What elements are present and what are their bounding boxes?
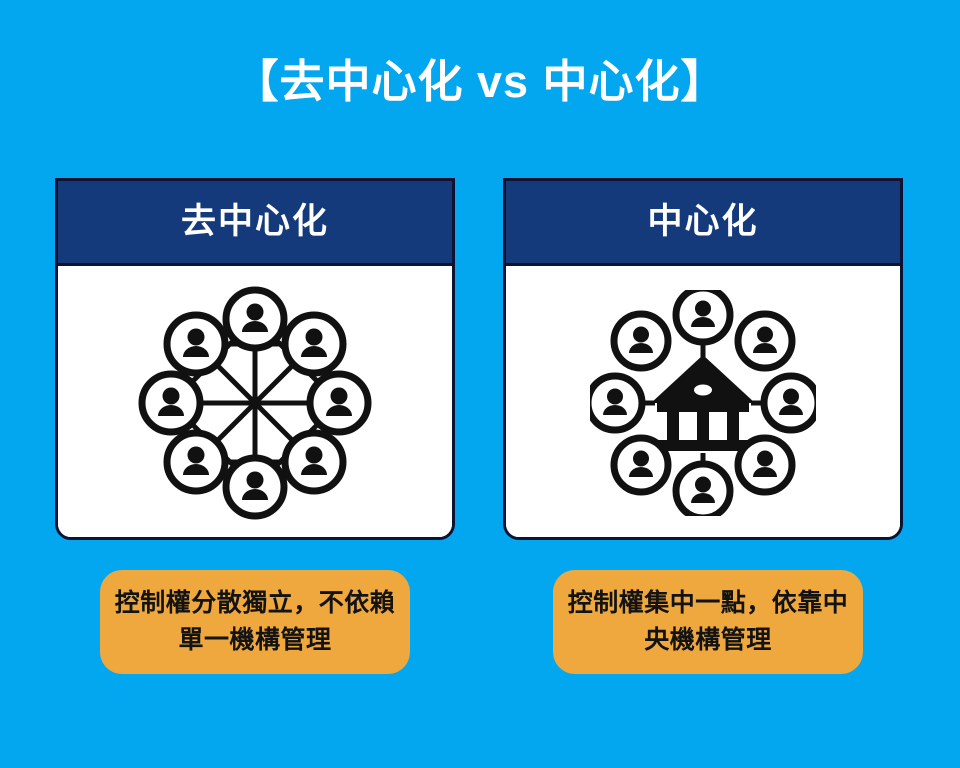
card-centralized: 中心化 — [503, 178, 903, 540]
card-decentralized: 去中心化 — [55, 178, 455, 540]
card-decentralized-title: 去中心化 — [181, 202, 329, 242]
caption-centralized-text: 控制權集中一點，依靠中央機構管理 — [567, 585, 849, 659]
card-decentralized-body — [58, 266, 452, 540]
caption-centralized: 控制權集中一點，依靠中央機構管理 — [553, 570, 863, 674]
bank-icon — [651, 355, 755, 453]
page-title: 【去中心化 vs 中心化】 — [0, 52, 960, 112]
card-centralized-header: 中心化 — [506, 181, 900, 266]
centralized-hub-network-diagram — [590, 290, 816, 516]
caption-decentralized: 控制權分散獨立，不依賴單一機構管理 — [100, 570, 410, 674]
card-decentralized-header: 去中心化 — [58, 181, 452, 266]
caption-decentralized-text: 控制權分散獨立，不依賴單一機構管理 — [114, 585, 396, 659]
card-centralized-title: 中心化 — [647, 202, 758, 242]
card-centralized-body — [506, 266, 900, 540]
decentralized-mesh-network-diagram — [135, 285, 375, 521]
